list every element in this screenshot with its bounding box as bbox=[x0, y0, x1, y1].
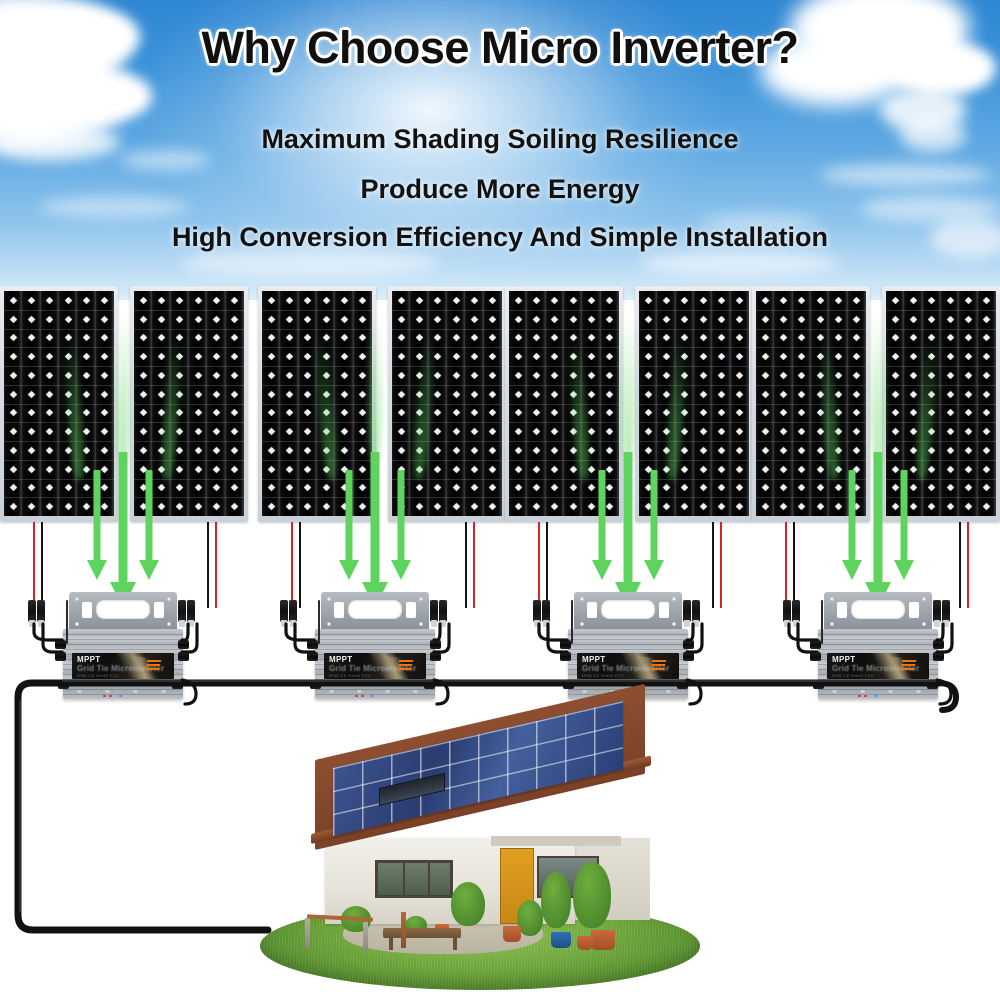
cell-row-line bbox=[756, 366, 866, 367]
arrow-head bbox=[339, 560, 359, 580]
heatsink-fin bbox=[818, 694, 938, 695]
cable-gland bbox=[683, 652, 694, 661]
cell-row-line bbox=[886, 460, 996, 461]
bracket-screw-hole bbox=[75, 622, 79, 626]
arrow-head bbox=[592, 560, 612, 580]
antenna bbox=[66, 600, 68, 644]
subtitle-line-3: High Conversion Efficiency And Simple In… bbox=[0, 222, 1000, 253]
mc4-connector bbox=[692, 600, 700, 622]
mounting-bracket bbox=[69, 592, 177, 634]
cable-gland bbox=[58, 680, 69, 689]
heatsink-fin bbox=[315, 634, 435, 635]
connector-tip bbox=[534, 620, 540, 627]
porch-canopy bbox=[491, 836, 621, 846]
cell-row-line bbox=[886, 329, 996, 330]
cell-row-line bbox=[509, 310, 619, 311]
heatsink-fin bbox=[568, 679, 688, 680]
cell-row-line bbox=[4, 404, 114, 405]
infographic-canvas: Why Choose Micro Inverter? Maximum Shadi… bbox=[0, 0, 1000, 1000]
heatsink-fin bbox=[315, 694, 435, 695]
dc-negative-wire bbox=[207, 522, 209, 608]
housing-screw bbox=[666, 690, 671, 693]
housing-screw bbox=[860, 690, 865, 693]
solar-panel bbox=[388, 286, 506, 522]
inverter-housing: MPPTGrid Tie MicroinverterIP65 CE RoHS F… bbox=[315, 629, 435, 699]
cable-gland bbox=[172, 680, 183, 689]
bench-leg bbox=[453, 938, 457, 950]
cable-gland bbox=[430, 652, 441, 661]
shrub bbox=[573, 862, 611, 928]
cell-row-line bbox=[262, 497, 372, 498]
bracket-handle-cutout bbox=[601, 600, 655, 619]
cell-row-line bbox=[4, 366, 114, 367]
cell-row-line bbox=[639, 404, 749, 405]
connector-tip bbox=[793, 620, 799, 627]
cable-gland bbox=[810, 652, 821, 661]
bracket-handle-cutout bbox=[96, 600, 150, 619]
mc4-connector bbox=[178, 600, 186, 622]
arrow-head bbox=[894, 560, 914, 580]
cell-row-line bbox=[509, 347, 619, 348]
mc4-connector bbox=[280, 600, 288, 622]
bracket-notch bbox=[334, 602, 344, 618]
mc4-connector bbox=[942, 600, 950, 622]
connector-tip bbox=[693, 620, 699, 627]
microinverter-unit[interactable]: MPPTGrid Tie MicroinverterIP65 CE RoHS F… bbox=[60, 592, 186, 710]
heatsink-fin bbox=[568, 644, 688, 645]
bracket-screw-hole bbox=[922, 597, 926, 601]
arrow-head bbox=[391, 560, 411, 580]
cell-row-line bbox=[886, 366, 996, 367]
energy-flow-glow bbox=[368, 312, 382, 462]
cell-row-line bbox=[4, 422, 114, 423]
cable-gland bbox=[810, 640, 821, 649]
bracket-handle-cutout bbox=[851, 600, 905, 619]
microinverter-unit[interactable]: MPPTGrid Tie MicroinverterIP65 CE RoHS F… bbox=[815, 592, 941, 710]
heatsink-fin bbox=[818, 644, 938, 645]
connector-tip bbox=[188, 620, 194, 627]
heatsink-fin bbox=[315, 649, 435, 650]
certification-text: IP65 CE RoHS FCC bbox=[77, 673, 119, 678]
housing-screw bbox=[582, 690, 587, 693]
heatsink-fin bbox=[568, 649, 688, 650]
dc-positive-wire bbox=[538, 522, 540, 608]
housing-screw bbox=[133, 690, 138, 693]
arrow-shaft bbox=[849, 470, 856, 560]
bracket-screw-hole bbox=[167, 622, 171, 626]
cell-row-line bbox=[262, 310, 372, 311]
cell-row-line bbox=[756, 347, 866, 348]
cable-gland bbox=[307, 652, 318, 661]
heatsink-fin bbox=[818, 679, 938, 680]
heatsink-fin bbox=[818, 684, 938, 685]
mc4-connector bbox=[439, 600, 447, 622]
cell-row-line bbox=[886, 347, 996, 348]
cell-row-line bbox=[392, 385, 502, 386]
antenna bbox=[318, 600, 320, 644]
cell-row-line bbox=[639, 385, 749, 386]
cable-gland bbox=[683, 640, 694, 649]
brand-logo-icon bbox=[900, 660, 917, 672]
cell-row-line bbox=[4, 385, 114, 386]
mc4-connector bbox=[430, 600, 438, 622]
dc-positive-wire bbox=[33, 522, 35, 608]
arrow-shaft bbox=[346, 470, 353, 560]
housing-screw bbox=[161, 690, 166, 693]
mppt-text: MPPT bbox=[77, 655, 100, 664]
bracket-screw-hole bbox=[167, 597, 171, 601]
cell-row-line bbox=[392, 404, 502, 405]
cell-row-line bbox=[756, 329, 866, 330]
cell-row-line bbox=[756, 404, 866, 405]
bench-leg bbox=[389, 938, 393, 950]
cell-row-line bbox=[392, 422, 502, 423]
mc4-connector bbox=[783, 600, 791, 622]
heatsink-fin bbox=[63, 639, 183, 640]
cell-row-line bbox=[4, 441, 114, 442]
connector-tip bbox=[440, 620, 446, 627]
subtitle-line-1: Maximum Shading Soiling Resilience bbox=[0, 124, 1000, 155]
cable-gland bbox=[927, 680, 938, 689]
mounting-bracket bbox=[824, 592, 932, 634]
inverter-label: MPPTGrid Tie MicroinverterIP65 CE RoHS F… bbox=[577, 653, 679, 679]
bracket-notch bbox=[587, 602, 597, 618]
connector-tip bbox=[684, 620, 690, 627]
mc4-connector bbox=[792, 600, 800, 622]
cell-row-line bbox=[886, 310, 996, 311]
cell-row-line bbox=[262, 460, 372, 461]
cell-row-line bbox=[134, 460, 244, 461]
cable-gland bbox=[178, 652, 189, 661]
antenna bbox=[571, 600, 573, 644]
status-led bbox=[858, 695, 861, 697]
residential-house-with-rooftop-solar bbox=[255, 760, 705, 990]
cell-row-line bbox=[262, 441, 372, 442]
cell-row-line bbox=[756, 385, 866, 386]
bracket-screw-hole bbox=[830, 622, 834, 626]
housing-screw bbox=[77, 690, 82, 693]
dc-positive-wire bbox=[720, 522, 722, 608]
inverter-label: MPPTGrid Tie MicroinverterIP65 CE RoHS F… bbox=[324, 653, 426, 679]
dc-negative-wire bbox=[959, 522, 961, 608]
shrub bbox=[451, 882, 485, 926]
heatsink-fin bbox=[63, 694, 183, 695]
cell-row-line bbox=[134, 329, 244, 330]
cell-row-line bbox=[509, 329, 619, 330]
status-led bbox=[109, 695, 112, 697]
heatsink-fin bbox=[315, 679, 435, 680]
arrow-head bbox=[87, 560, 107, 580]
cell-row-line bbox=[756, 460, 866, 461]
housing-screw bbox=[329, 690, 334, 693]
window-mullion bbox=[428, 863, 430, 895]
status-led bbox=[874, 695, 877, 697]
cell-row-line bbox=[4, 310, 114, 311]
bracket-notch bbox=[659, 602, 669, 618]
microinverter-unit[interactable]: MPPTGrid Tie MicroinverterIP65 CE RoHS F… bbox=[312, 592, 438, 710]
dc-negative-wire bbox=[41, 522, 43, 608]
mppt-text: MPPT bbox=[582, 655, 605, 664]
status-led bbox=[355, 695, 358, 697]
mc4-connector bbox=[542, 600, 550, 622]
mc4-connector bbox=[37, 600, 45, 622]
bracket-handle-cutout bbox=[348, 600, 402, 619]
bracket-notch bbox=[837, 602, 847, 618]
arrow-shaft bbox=[398, 470, 405, 560]
cell-row-line bbox=[639, 347, 749, 348]
cell-row-line bbox=[509, 404, 619, 405]
cell-row-line bbox=[392, 497, 502, 498]
arrow-shaft bbox=[146, 470, 153, 560]
arrow-shaft bbox=[119, 452, 128, 582]
cell-row-line bbox=[4, 347, 114, 348]
window-mullion bbox=[403, 863, 405, 895]
garden-bench bbox=[383, 928, 461, 938]
inverter-label: MPPTGrid Tie MicroinverterIP65 CE RoHS F… bbox=[72, 653, 174, 679]
certification-text: IP65 CE RoHS FCC bbox=[832, 673, 874, 678]
certification-text: IP65 CE RoHS FCC bbox=[329, 673, 371, 678]
arrow-shaft bbox=[651, 470, 658, 560]
heatsink-fin bbox=[818, 649, 938, 650]
status-led bbox=[361, 695, 364, 697]
cable-gland bbox=[560, 640, 571, 649]
arrow-head bbox=[139, 560, 159, 580]
shrub bbox=[541, 872, 571, 928]
cable-gland bbox=[310, 680, 321, 689]
cell-row-line bbox=[134, 366, 244, 367]
arrow-shaft bbox=[94, 470, 101, 560]
arrow-head bbox=[842, 560, 862, 580]
cell-row-line bbox=[134, 347, 244, 348]
page-title: Why Choose Micro Inverter? bbox=[0, 22, 1000, 74]
cell-row-line bbox=[262, 329, 372, 330]
cell-row-line bbox=[639, 460, 749, 461]
heatsink-fin bbox=[568, 634, 688, 635]
mppt-text: MPPT bbox=[329, 655, 352, 664]
connector-tip bbox=[784, 620, 790, 627]
arrow-shaft bbox=[371, 452, 380, 582]
connector-tip bbox=[431, 620, 437, 627]
cable-gland bbox=[933, 652, 944, 661]
cable-gland bbox=[677, 680, 688, 689]
housing-screw bbox=[385, 690, 390, 693]
connector-tip bbox=[281, 620, 287, 627]
bracket-notch bbox=[909, 602, 919, 618]
dc-positive-wire bbox=[291, 522, 293, 608]
cell-row-line bbox=[509, 422, 619, 423]
cable-gland bbox=[178, 640, 189, 649]
bracket-screw-hole bbox=[580, 597, 584, 601]
housing-screw bbox=[413, 690, 418, 693]
inverter-housing: MPPTGrid Tie MicroinverterIP65 CE RoHS F… bbox=[818, 629, 938, 699]
heatsink-fin bbox=[568, 639, 688, 640]
status-led bbox=[103, 695, 106, 697]
heatsink-fin bbox=[63, 684, 183, 685]
mc4-connector bbox=[933, 600, 941, 622]
mc4-connector bbox=[187, 600, 195, 622]
housing-screw bbox=[357, 690, 362, 693]
bracket-screw-hole bbox=[672, 597, 676, 601]
cell-row-line bbox=[639, 366, 749, 367]
dc-negative-wire bbox=[793, 522, 795, 608]
bracket-screw-hole bbox=[580, 622, 584, 626]
cell-row-line bbox=[509, 366, 619, 367]
cell-row-line bbox=[262, 422, 372, 423]
inverter-housing: MPPTGrid Tie MicroinverterIP65 CE RoHS F… bbox=[63, 629, 183, 699]
heatsink-fin bbox=[63, 644, 183, 645]
bracket-screw-hole bbox=[419, 597, 423, 601]
cell-row-line bbox=[886, 422, 996, 423]
bracket-screw-hole bbox=[419, 622, 423, 626]
cable-gland bbox=[424, 680, 435, 689]
cell-row-line bbox=[392, 366, 502, 367]
bracket-notch bbox=[154, 602, 164, 618]
cable-gland bbox=[563, 680, 574, 689]
cell-row-line bbox=[756, 441, 866, 442]
status-led bbox=[864, 695, 867, 697]
bracket-screw-hole bbox=[327, 622, 331, 626]
cell-row-line bbox=[509, 441, 619, 442]
energy-flow-glow bbox=[621, 312, 635, 462]
heatsink-fin bbox=[63, 679, 183, 680]
cable-gland bbox=[55, 640, 66, 649]
heatsink-fin bbox=[818, 639, 938, 640]
arrow-shaft bbox=[599, 470, 606, 560]
arrow-shaft bbox=[874, 452, 883, 582]
fence-post bbox=[363, 922, 368, 952]
connector-tip bbox=[29, 620, 35, 627]
cloud-shape bbox=[640, 250, 840, 276]
flower-pot bbox=[503, 926, 521, 942]
cell-row-line bbox=[134, 385, 244, 386]
bracket-screw-hole bbox=[327, 597, 331, 601]
energy-flow-glow bbox=[116, 312, 130, 462]
bracket-screw-hole bbox=[830, 597, 834, 601]
connector-tip bbox=[543, 620, 549, 627]
heatsink-fin bbox=[315, 644, 435, 645]
cell-row-line bbox=[134, 441, 244, 442]
fence-post bbox=[401, 912, 406, 948]
cell-row-line bbox=[4, 460, 114, 461]
cell-row-line bbox=[134, 310, 244, 311]
solar-panel bbox=[258, 286, 376, 522]
heatsink-fin bbox=[818, 634, 938, 635]
connector-tip bbox=[934, 620, 940, 627]
cell-row-line bbox=[392, 329, 502, 330]
cable-gland bbox=[933, 640, 944, 649]
bracket-screw-hole bbox=[922, 622, 926, 626]
panel-cell-grid bbox=[262, 291, 372, 516]
mounting-bracket bbox=[321, 592, 429, 634]
heatsink-fin bbox=[315, 684, 435, 685]
dc-positive-wire bbox=[215, 522, 217, 608]
cell-row-line bbox=[392, 441, 502, 442]
cable-gland bbox=[813, 680, 824, 689]
cloud-shape bbox=[56, 70, 152, 122]
flower-pot bbox=[577, 936, 593, 950]
heatsink-fin bbox=[63, 634, 183, 635]
cell-row-line bbox=[886, 404, 996, 405]
brand-logo-icon bbox=[397, 660, 414, 672]
dc-positive-wire bbox=[473, 522, 475, 608]
status-led bbox=[119, 695, 122, 697]
cell-row-line bbox=[639, 310, 749, 311]
cable-gland bbox=[55, 652, 66, 661]
cell-row-line bbox=[756, 310, 866, 311]
cell-row-line bbox=[886, 385, 996, 386]
cell-row-line bbox=[639, 422, 749, 423]
dc-negative-wire bbox=[546, 522, 548, 608]
cell-row-line bbox=[756, 422, 866, 423]
brand-logo-icon bbox=[145, 660, 162, 672]
cell-row-line bbox=[134, 422, 244, 423]
cell-row-line bbox=[509, 385, 619, 386]
housing-screw bbox=[916, 690, 921, 693]
dc-negative-wire bbox=[712, 522, 714, 608]
cell-row-line bbox=[639, 441, 749, 442]
dc-negative-wire bbox=[299, 522, 301, 608]
cell-row-line bbox=[392, 479, 502, 480]
cable-gland bbox=[307, 640, 318, 649]
bracket-screw-hole bbox=[672, 622, 676, 626]
housing-screw bbox=[888, 690, 893, 693]
heatsink-fin bbox=[568, 684, 688, 685]
cell-row-line bbox=[262, 479, 372, 480]
connector-tip bbox=[38, 620, 44, 627]
flower-pot bbox=[591, 930, 615, 950]
cell-row-line bbox=[886, 441, 996, 442]
brand-logo-icon bbox=[650, 660, 667, 672]
panel-cell-grid bbox=[392, 291, 502, 516]
flower-pot bbox=[551, 932, 571, 948]
bracket-notch bbox=[406, 602, 416, 618]
connector-tip bbox=[290, 620, 296, 627]
mppt-text: MPPT bbox=[832, 655, 855, 664]
cable-gland bbox=[430, 640, 441, 649]
mc4-connector bbox=[683, 600, 691, 622]
heatsink-fin bbox=[63, 649, 183, 650]
cell-row-line bbox=[4, 329, 114, 330]
housing-screw bbox=[832, 690, 837, 693]
cell-row-line bbox=[392, 460, 502, 461]
heatsink-fin bbox=[315, 639, 435, 640]
dc-positive-wire bbox=[785, 522, 787, 608]
housing-screw bbox=[105, 690, 110, 693]
house-window bbox=[375, 860, 453, 898]
status-led bbox=[371, 695, 374, 697]
bracket-screw-hole bbox=[75, 597, 79, 601]
mc4-connector bbox=[28, 600, 36, 622]
cell-row-line bbox=[262, 404, 372, 405]
energy-flow-glow bbox=[871, 312, 885, 462]
connector-tip bbox=[943, 620, 949, 627]
mc4-connector bbox=[289, 600, 297, 622]
arrow-head bbox=[644, 560, 664, 580]
cell-row-line bbox=[392, 310, 502, 311]
cell-row-line bbox=[392, 347, 502, 348]
cell-row-line bbox=[639, 329, 749, 330]
arrow-shaft bbox=[901, 470, 908, 560]
connector-tip bbox=[179, 620, 185, 627]
inverter-label: MPPTGrid Tie MicroinverterIP65 CE RoHS F… bbox=[827, 653, 929, 679]
dc-negative-wire bbox=[465, 522, 467, 608]
bracket-notch bbox=[82, 602, 92, 618]
mc4-connector bbox=[533, 600, 541, 622]
mounting-bracket bbox=[574, 592, 682, 634]
cell-row-line bbox=[509, 460, 619, 461]
certification-text: IP65 CE RoHS FCC bbox=[582, 673, 624, 678]
cell-row-line bbox=[134, 404, 244, 405]
